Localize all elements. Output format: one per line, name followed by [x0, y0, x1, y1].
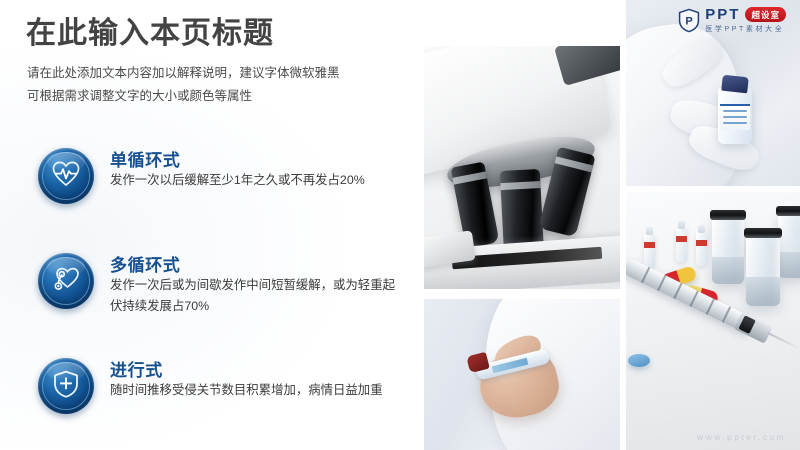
item-heading: 进行式 [110, 356, 163, 381]
glass-vial-cap [744, 228, 782, 238]
glass-vial [712, 216, 744, 284]
badge-circle-2[interactable] [38, 253, 94, 309]
badge-circle-3[interactable] [38, 358, 94, 414]
shield-p-icon: P [678, 8, 700, 33]
item-body: 随时间推移受侵关节数目积累增加，病情日益加重 [110, 380, 400, 401]
subtitle-line-1: 请在此处添加文本内容加以解释说明，建议字体微软雅黑 [27, 62, 402, 85]
stethoscope-heart-icon [51, 264, 81, 299]
page-title: 在此输入本页标题 [26, 16, 274, 52]
logo-text-block: PPT 超设室 医学PPT素材大全 [705, 6, 786, 34]
vial-label [720, 104, 750, 130]
list-item[interactable]: 多循环式 发作一次后或为间歇发作中间短暂缓解，或为轻重起伏持续发展占70% [0, 245, 420, 350]
logo-primary-row: PPT 超设室 [705, 6, 786, 23]
page-subtitle: 请在此处添加文本内容加以解释说明，建议字体微软雅黑 可根据需求调整文字的大小或颜… [27, 62, 402, 108]
logo-brand-text: PPT [705, 6, 740, 23]
slide-root: 在此输入本页标题 请在此处添加文本内容加以解释说明，建议字体微软雅黑 可根据需求… [0, 0, 800, 450]
microscope-photo [424, 46, 620, 289]
heart-pulse-icon [51, 160, 81, 193]
logo-tag-badge: 超设室 [745, 7, 786, 22]
item-body: 发作一次以后缓解至少1年之久或不再发占20% [110, 170, 400, 191]
blue-tablet [628, 354, 650, 367]
blood-sample-photo [424, 299, 620, 450]
item-heading: 多循环式 [110, 251, 180, 276]
subtitle-line-2: 可根据需求调整文字的大小或颜色等属性 [27, 85, 402, 108]
vial-cap [721, 75, 749, 94]
item-heading: 单循环式 [110, 146, 180, 171]
glass-vial-cap [710, 210, 746, 220]
glass-vial-cap [776, 206, 800, 216]
left-content-column: 在此输入本页标题 请在此处添加文本内容加以解释说明，建议字体微软雅黑 可根据需求… [0, 0, 420, 450]
logo-subtitle: 医学PPT素材大全 [705, 24, 786, 34]
glass-vial [746, 234, 780, 306]
list-item[interactable]: 单循环式 发作一次以后缓解至少1年之久或不再发占20% [0, 140, 420, 245]
item-body: 发作一次后或为间歇发作中间短暂缓解，或为轻重起伏持续发展占70% [110, 275, 400, 318]
ampoule [676, 228, 687, 262]
brand-logo[interactable]: P PPT 超设室 医学PPT素材大全 [678, 6, 786, 34]
syringe-vials-photo [626, 192, 800, 450]
badge-circle-1[interactable] [38, 148, 94, 204]
shield-plus-icon [52, 369, 80, 404]
feature-list: 单循环式 发作一次以后缓解至少1年之久或不再发占20% [0, 140, 420, 350]
site-watermark: www.ppter.com [697, 432, 786, 442]
svg-text:P: P [686, 15, 693, 27]
ampoule [696, 232, 707, 266]
glass-vial [778, 212, 800, 278]
